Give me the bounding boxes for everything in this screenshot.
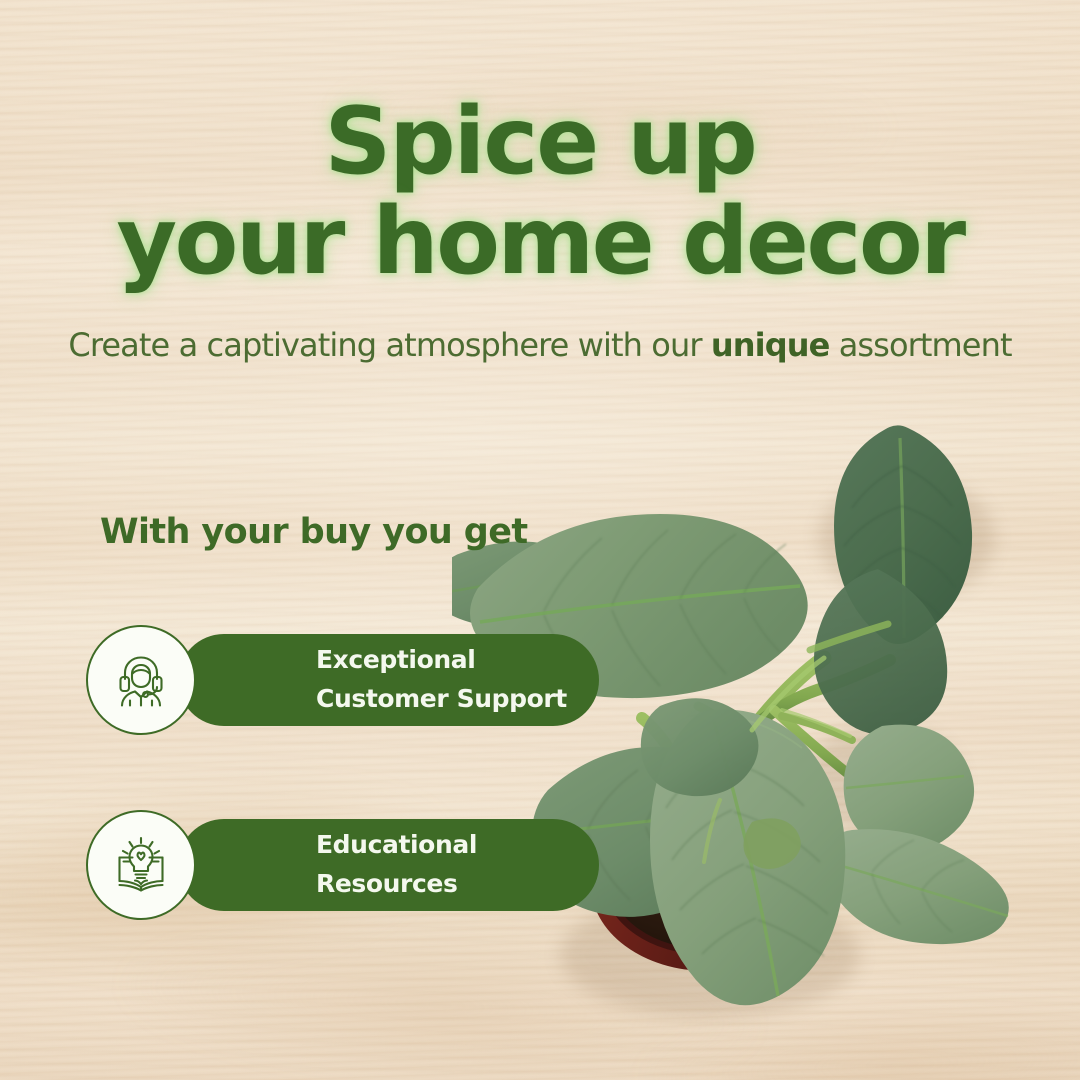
leaf-right-lower bbox=[823, 829, 1009, 944]
benefit-label-line-2: Customer Support bbox=[316, 680, 599, 719]
subtitle-text-after: assortment bbox=[829, 326, 1011, 364]
benefits-heading: With your buy you get bbox=[100, 512, 528, 552]
subtitle-emphasis: unique bbox=[711, 326, 830, 364]
benefit-label-line-1: Educational bbox=[316, 826, 599, 865]
headline-line-2: your home decor bbox=[0, 192, 1080, 292]
headline-line-1: Spice up bbox=[0, 92, 1080, 192]
benefit-pill[interactable]: Educational Resources bbox=[178, 819, 599, 911]
benefit-label-line-1: Exceptional bbox=[316, 641, 599, 680]
open-book-lightbulb-icon bbox=[86, 810, 196, 920]
page-title: Spice up your home decor bbox=[0, 92, 1080, 291]
benefit-label-line-2: Resources bbox=[316, 865, 599, 904]
headset-support-agent-icon bbox=[86, 625, 196, 735]
subtitle-text-before: Create a captivating atmosphere with our bbox=[68, 326, 711, 364]
subtitle: Create a captivating atmosphere with our… bbox=[0, 326, 1080, 364]
promo-poster: Spice up your home decor Create a captiv… bbox=[0, 0, 1080, 1080]
benefit-pill[interactable]: Exceptional Customer Support bbox=[178, 634, 599, 726]
